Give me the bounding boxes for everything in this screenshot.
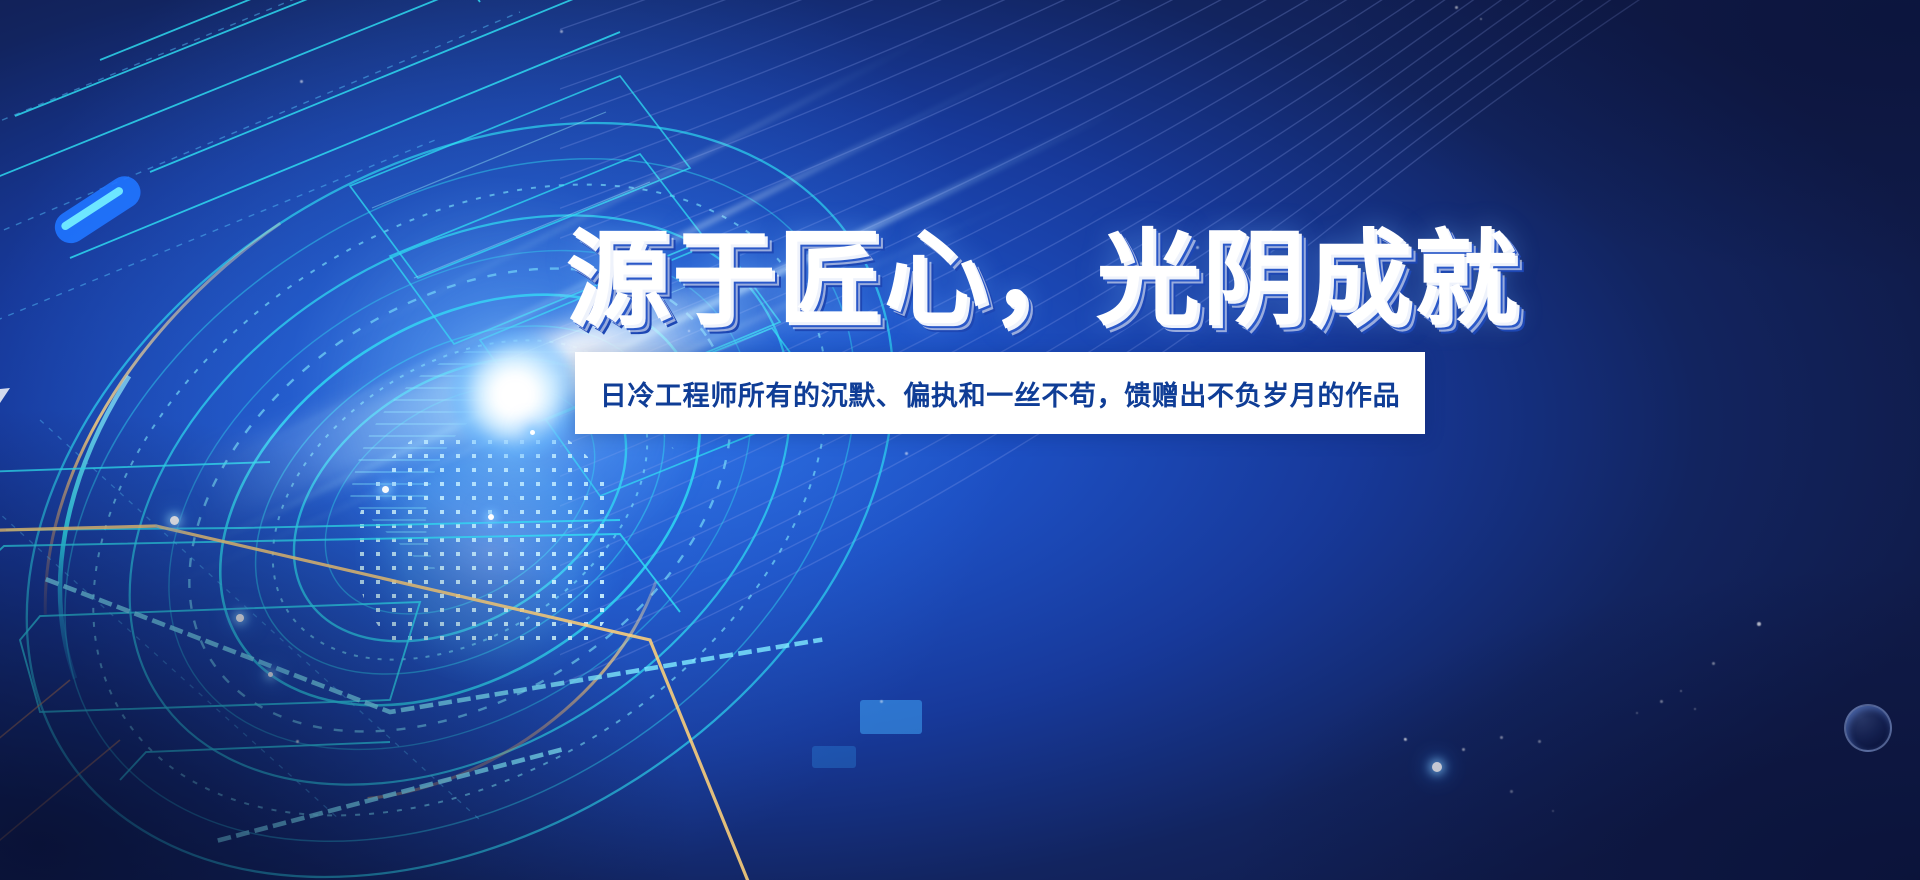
particle [236,614,244,622]
subtitle-banner: 日冷工程师所有的沉默、偏执和一丝不苟，馈赠出不负岁月的作品 [575,352,1425,434]
particle [1480,18,1482,20]
particle [1680,690,1682,692]
particle [1404,738,1406,740]
particle [488,514,494,520]
particle [382,486,389,493]
particle [1538,740,1541,743]
page-title: 源于匠心，光阴成就 [566,214,1446,344]
particle [1712,662,1715,665]
particle [880,700,883,703]
bubble-ring-icon [1844,704,1892,752]
tech-ring-graphic [0,0,1100,880]
particle [170,516,179,525]
hero-banner: 源于匠心，光阴成就 日冷工程师所有的沉默、偏执和一丝不苟，馈赠出不负岁月的作品 [0,0,1920,880]
particle [1432,762,1442,772]
vignette-overlay [0,0,1920,880]
particle [1510,790,1513,793]
particle [905,452,908,455]
light-burst-core [450,330,580,460]
particle [1757,622,1761,626]
particle [1694,708,1696,710]
subtitle-text: 日冷工程师所有的沉默、偏执和一丝不苟，馈赠出不负岁月的作品 [600,374,1400,413]
particle [1636,712,1638,714]
particle [1462,748,1465,751]
particle [300,80,303,83]
particle [1404,738,1407,741]
particle [1500,736,1503,739]
particle [1455,6,1458,9]
particle [1660,700,1663,703]
particle [1552,810,1554,812]
particle [268,672,273,677]
particle [296,740,299,743]
particle [560,30,563,33]
particle [530,430,535,435]
